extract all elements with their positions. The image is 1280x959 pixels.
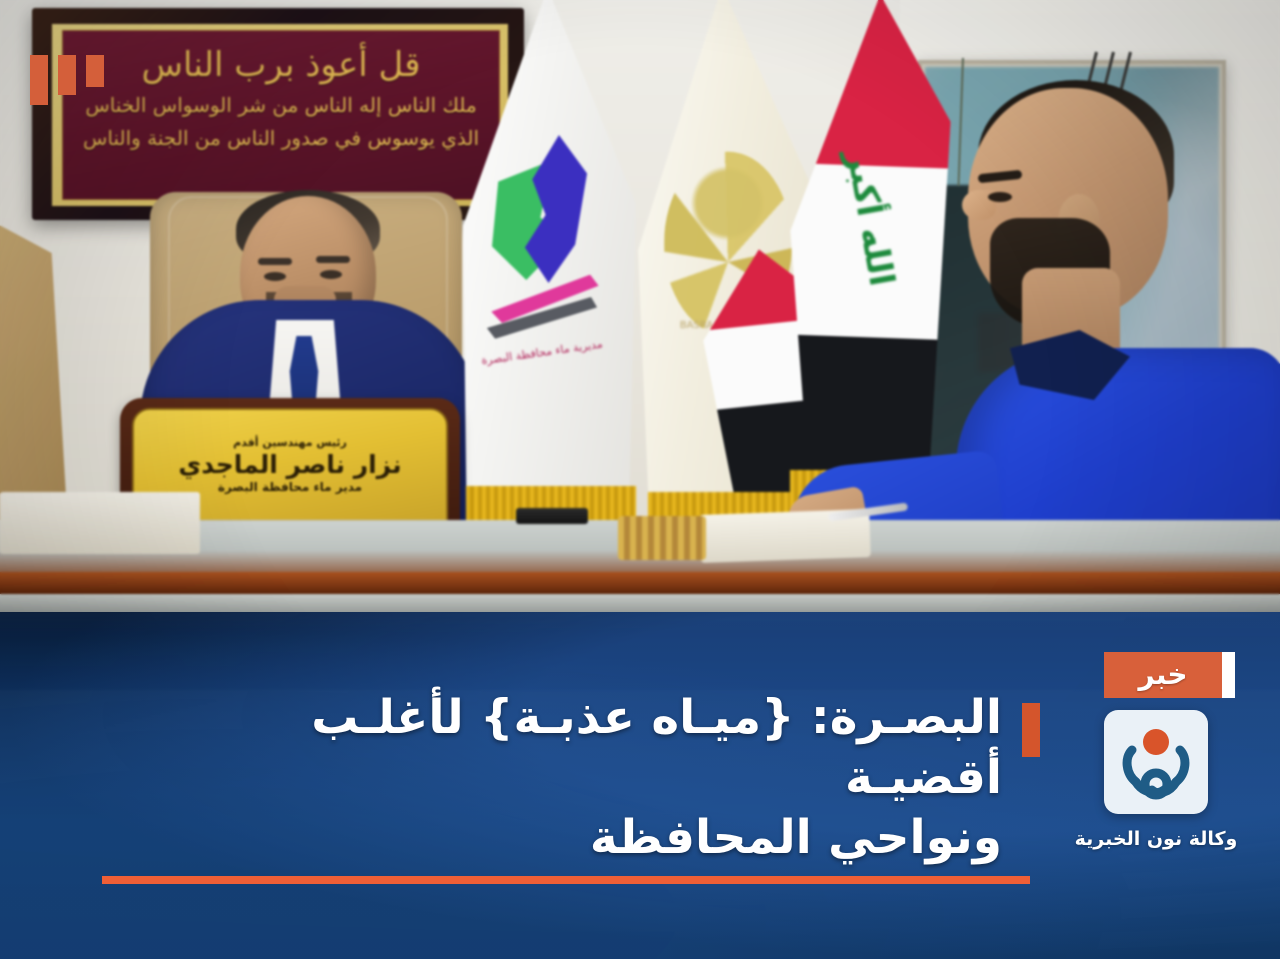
headline-line-1: البصـرة: {ميـاه عذبـة} لأغلـب أقضيـة <box>242 688 1002 808</box>
noon-logo-icon <box>1112 718 1200 806</box>
calligraphy-line-1: قل أعوذ برب الناس <box>63 45 499 85</box>
nameplate-name: نزار ناصر الماجدي <box>178 450 401 479</box>
desk-edge <box>0 572 1280 594</box>
news-card: قل أعوذ برب الناس ملك الناس إله الناس من… <box>0 0 1280 959</box>
headline: البصـرة: {ميـاه عذبـة} لأغلـب أقضيـة ونو… <box>242 688 1002 868</box>
headline-line-2: ونواحي المحافظة <box>242 808 1002 868</box>
desk-coaster <box>618 516 706 560</box>
corner-tick-marks <box>30 55 104 105</box>
seated-person-brow-left <box>258 258 292 265</box>
news-badge-label: خبر <box>1138 661 1187 689</box>
tick-mark-3 <box>86 55 104 87</box>
nameplate-title: مدير ماء محافظة البصرة <box>218 480 362 494</box>
tick-mark-2 <box>58 55 76 95</box>
nameplate-role: رئيس مهندسين أقدم <box>233 436 347 449</box>
news-badge: خبر <box>1104 652 1222 698</box>
desk-remote <box>516 508 588 524</box>
calligraphy-line-3: الذي يوسوس في صدور الناس من الجنة والناس <box>63 126 499 150</box>
seated-person-eye-right <box>320 270 342 279</box>
seated-person-eye-left <box>264 272 286 281</box>
framed-calligraphy: قل أعوذ برب الناس ملك الناس إله الناس من… <box>32 8 524 220</box>
noon-agency-logo <box>1104 710 1208 814</box>
tick-mark-1 <box>30 55 48 105</box>
standing-person-eye <box>988 192 1012 202</box>
seated-person-brow-right <box>316 256 350 263</box>
desk-papers <box>0 492 200 554</box>
headline-accent-bar <box>1022 703 1040 757</box>
agency-name: وكالة نون الخبرية <box>1075 828 1238 850</box>
brand-block: خبر وكالة نون الخبرية <box>1056 652 1256 850</box>
frame-panel: قل أعوذ برب الناس ملك الناس إله الناس من… <box>62 30 500 200</box>
headline-underline-rule <box>102 876 1030 884</box>
calligraphy-line-2: ملك الناس إله الناس من شر الوسواس الخناس <box>63 93 499 117</box>
